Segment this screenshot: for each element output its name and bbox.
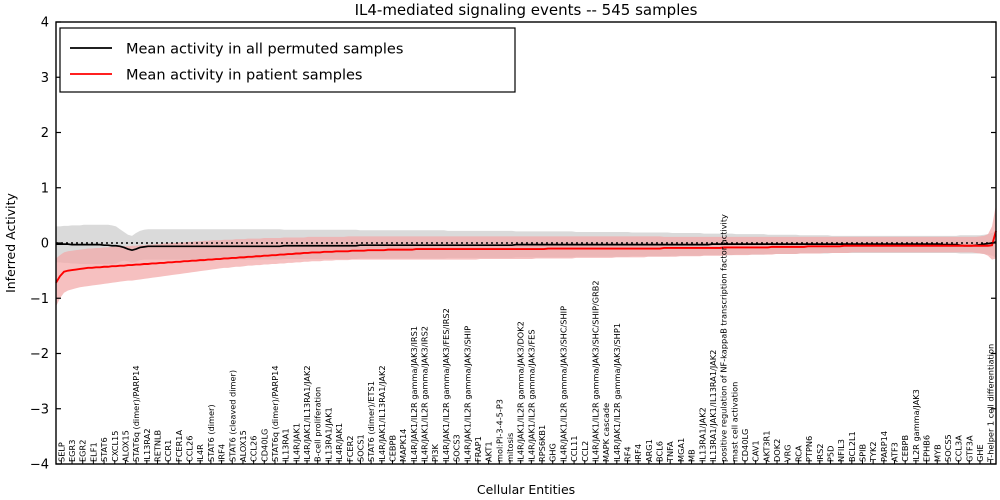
x-tick-label: CD40LG [740, 429, 750, 462]
legend-label: Mean activity in all permuted samples [126, 42, 403, 58]
x-tick-label: CXCL15 [110, 431, 120, 462]
x-tick-label: AKT1 [484, 441, 494, 462]
x-tick-label: IRF4 [217, 444, 227, 462]
x-tick-label: IL4R/JAK1/IL2R gamma/JAK3/SHC/SHIP/GRB2 [590, 280, 600, 462]
x-tick-label: IL13RA1/JAK2 [697, 407, 707, 462]
x-tick-label: PI3K [430, 443, 440, 462]
x-tick-label: T-helper 1 cell differentiation [986, 344, 996, 463]
chart-figure: 43210−1−2−3−4Inferred ActivityIL4-mediat… [0, 0, 1000, 500]
y-tick-label: 3 [41, 71, 49, 86]
x-tick-label: CCL26 [185, 436, 195, 462]
x-tick-label: TNFA [665, 441, 675, 463]
x-tick-label: IL4R/JAK1 [334, 423, 344, 462]
x-tick-label: IL4R/JAK1/IL2R gamma/JAK3/IRS2 [420, 326, 430, 462]
x-tick-label: STAT6 (cleaved dimer) [227, 370, 237, 462]
x-tick-label: TYK2 [868, 441, 878, 463]
y-tick-label: −4 [30, 458, 49, 473]
y-tick-label: 4 [41, 16, 49, 31]
x-tick-label: MB [687, 449, 697, 462]
x-tick-label: GTF3A [964, 435, 974, 462]
x-tick-label: ATF3 [890, 442, 900, 462]
legend-label: Mean activity in patient samples [126, 68, 362, 84]
x-tick-label: CEBPB [387, 435, 397, 462]
chart-svg: 43210−1−2−3−4Inferred ActivityIL4-mediat… [0, 0, 1000, 500]
x-tick-label: IL13RA1/JAK1/IL13RA1/JAK2 [708, 350, 718, 462]
x-tick-label: DOK2 [772, 439, 782, 462]
x-tick-label: IL4R/JAK1/IL2R gamma/JAK3/SHP1 [612, 323, 622, 462]
y-tick-label: −1 [30, 292, 49, 307]
x-tick-label: BCL6 [655, 441, 665, 462]
x-tick-label: SOCS1 [355, 434, 365, 462]
x-tick-label: B-cell proliferation [313, 387, 323, 462]
x-tick-label: positive regulation of NF-kappaB transcr… [719, 214, 729, 462]
x-tick-label: IL4R/JAK1/IL13RA1/JAK2 [377, 365, 387, 462]
y-tick-label: 0 [41, 237, 49, 252]
x-tick-label: FCER1A [174, 430, 184, 462]
x-tick-label: STAT6 (dimer)/ETS1 [366, 381, 376, 462]
x-tick-label: CCL3A [954, 435, 964, 462]
x-tick-label: P5D [825, 446, 835, 462]
y-tick-label: 1 [41, 181, 49, 196]
y-axis-label: Inferred Activity [3, 192, 18, 292]
x-tick-label: IL2R gamma/JAK3 [911, 389, 921, 462]
x-tick-label: AKT3R1 [761, 431, 771, 462]
x-tick-label: IL4R/JAK1/IL2R gamma/JAK3/IRS1 [409, 326, 419, 462]
x-tick-label: ELF1 [88, 442, 98, 462]
x-tick-label: IRS2 [815, 443, 825, 462]
x-tick-label: STAT6q (dimer)/PARP14 [131, 365, 141, 462]
x-tick-label: RPS6KB1 [537, 425, 547, 462]
x-tick-label: IL4R/JAK1 [291, 423, 301, 462]
y-tick-label: 2 [41, 126, 49, 141]
x-tick-label: IL4R/JAK1/IL13RA1/JAK2 [302, 365, 312, 462]
x-tick-label: IL4R/JAK1/IL2R gamma/JAK3/SHC/SHIP [558, 306, 568, 462]
x-tick-label: SOCS5 [943, 434, 953, 462]
x-tick-label: STAT6q (dimer)/PARP14 [270, 365, 280, 462]
x-tick-label: ALOX15 [238, 430, 248, 462]
x-tick-label: CD40LG [259, 429, 269, 462]
x-tick-label: ARG1 [644, 439, 654, 462]
x-tick-label: CCL2 [580, 441, 590, 462]
x-tick-label: EGR2 [78, 440, 88, 462]
x-tick-label: STAT6 (dimer) [206, 404, 216, 462]
x-tick-label: RETNLB [152, 429, 162, 462]
x-tick-label: IL4R/JAK1/IL2R gamma/JAK3/FES/IRS2 [441, 308, 451, 462]
x-tick-label: CCL26 [249, 436, 259, 462]
x-tick-label: CEBPB [900, 435, 910, 462]
x-tick-label: MAPK cascade [601, 403, 611, 462]
x-tick-label: IL4R [195, 444, 205, 462]
y-tick-label: −3 [30, 402, 49, 417]
x-tick-label: IL4R/JAK1/IL2R gamma/JAK3/FES [526, 329, 536, 462]
x-tick-label: MGA1 [676, 438, 686, 462]
x-tick-label: SPIB [857, 443, 867, 462]
x-tick-label: NFIL3 [836, 439, 846, 462]
x-tick-label: CCR1 [163, 440, 173, 462]
x-tick-label: IL4R/JAK1/IL2R gamma/JAK3/DOK2 [516, 321, 526, 462]
x-tick-label: IRF4 [633, 444, 643, 462]
x-tick-label: PARP14 [879, 431, 889, 462]
x-tick-label: IL13RA1/JAK1 [323, 407, 333, 462]
x-tick-label: RF4 [622, 446, 632, 462]
x-tick-label: ALOX15 [120, 430, 130, 462]
x-tick-label: IL13RA2 [142, 428, 152, 462]
x-tick-label: SELP [56, 442, 66, 462]
x-tick-label: MAPK14 [398, 429, 408, 462]
x-tick-label: mast cell activation [729, 382, 739, 462]
chart-title: IL4-mediated signaling events -- 545 sam… [355, 1, 698, 19]
y-tick-label: −2 [30, 347, 49, 362]
x-tick-label: RCA [793, 445, 803, 462]
x-tick-label: STAT6 [99, 437, 109, 462]
x-tick-label: mitosis [505, 433, 515, 462]
x-tick-label: EPHB6 [922, 435, 932, 462]
x-axis-label: Cellular Entities [477, 482, 575, 497]
x-tick-label: PTPN6 [804, 436, 814, 462]
x-tick-label: IL4R/JAK1/IL2R gamma/JAK3/SHIP [462, 326, 472, 462]
x-tick-label: FRAP1 [473, 436, 483, 462]
x-tick-label: EGR3 [67, 440, 77, 462]
x-tick-label: FCER2 [345, 436, 355, 463]
x-tick-label: VRG [783, 444, 793, 462]
x-tick-label: mol:PI-3-4-5-P3 [494, 399, 504, 462]
x-tick-label: MYB [932, 444, 942, 462]
x-tick-label: BCL2L1 [847, 431, 857, 462]
x-tick-label: CAV1 [751, 440, 761, 462]
x-tick-label: CCL11 [569, 436, 579, 462]
x-tick-label: IL13RA1 [281, 428, 291, 462]
x-tick-label: SOCS3 [452, 434, 462, 462]
x-tick-label: GHE [975, 444, 985, 462]
x-tick-label: GHG [548, 443, 558, 462]
